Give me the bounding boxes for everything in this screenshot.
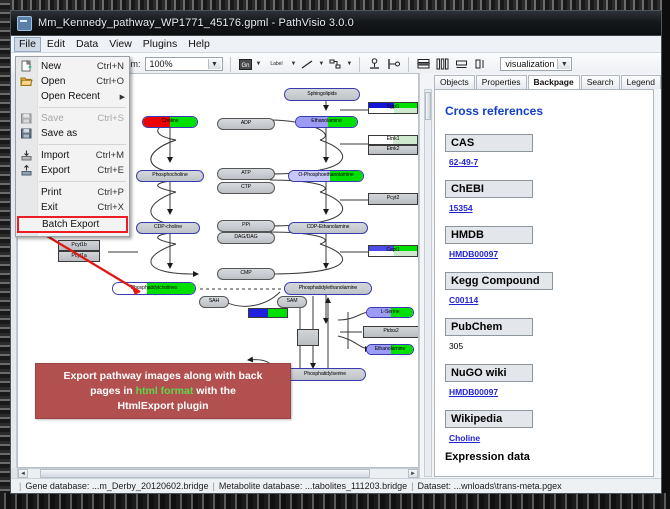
save-as-icon xyxy=(20,127,33,140)
scrollbar-thumb[interactable] xyxy=(425,92,431,120)
align-left-icon[interactable] xyxy=(386,57,401,72)
menu-item-save[interactable]: Save Ctrl+S xyxy=(16,111,129,126)
node-pcyt1b[interactable]: Pcyt1b xyxy=(58,240,100,251)
menu-separator xyxy=(39,181,126,182)
tab-search[interactable]: Search xyxy=(581,75,620,89)
menu-item-accel: Ctrl+S xyxy=(97,113,124,124)
connector-dropdown-icon[interactable]: ▼ xyxy=(346,61,352,67)
node-ctp[interactable]: CTP xyxy=(217,182,275,194)
menu-item-label: Save xyxy=(41,113,64,124)
node-ppi[interactable]: PPi xyxy=(217,220,275,232)
menu-item-export[interactable]: Export Ctrl+E xyxy=(16,163,129,178)
visualization-combo[interactable]: visualization ▼ xyxy=(500,57,572,71)
node-l-serine[interactable]: L-Serine xyxy=(366,307,414,318)
status-gene-db-label: Gene database: xyxy=(25,481,89,491)
chebi-link[interactable]: 15354 xyxy=(449,203,473,213)
menu-item-import[interactable]: Import Ctrl+M xyxy=(16,148,129,163)
status-metabolite-db-label: Metabolite database: xyxy=(219,481,303,491)
xref-header-chebi: ChEBI xyxy=(445,180,533,198)
status-gene-db-value: ...m_Derby_20120602.bridge xyxy=(92,481,209,491)
menu-plugins[interactable]: Plugins xyxy=(138,37,182,52)
annotation-line2a: pages in xyxy=(90,385,136,397)
menu-item-exit[interactable]: Exit Ctrl+X xyxy=(16,200,129,215)
menu-data[interactable]: Data xyxy=(71,37,103,52)
annotation-highlight: html format xyxy=(136,385,194,397)
toolbar-separator xyxy=(408,57,409,72)
common-height-icon[interactable] xyxy=(473,57,488,72)
xref-value-cas: 62-49-7 xyxy=(449,157,643,167)
menu-item-print[interactable]: Print Ctrl+P xyxy=(16,185,129,200)
menu-separator xyxy=(39,107,126,108)
annotation-callout: Export pathway images along with back pa… xyxy=(35,363,291,419)
menu-item-new[interactable]: New Ctrl+N xyxy=(16,59,129,74)
line-tool-icon[interactable] xyxy=(300,57,315,72)
menubar: File Edit Data View Plugins Help xyxy=(11,36,661,53)
xref-value-kegg: C00114 xyxy=(449,295,643,305)
tab-properties[interactable]: Properties xyxy=(476,75,527,89)
side-panel-tabs: Objects Properties Backpage Search Legen… xyxy=(420,73,661,89)
node-pcyt1a[interactable]: Pcyt1a xyxy=(58,251,100,262)
node-adp[interactable]: ADP xyxy=(217,118,275,130)
node-cmp[interactable]: CMP xyxy=(217,268,275,280)
menu-file[interactable]: File xyxy=(14,37,41,52)
node-sam[interactable]: SAM xyxy=(277,296,307,308)
status-dataset-label: Dataset: xyxy=(418,481,452,491)
cas-link[interactable]: 62-49-7 xyxy=(449,157,478,167)
menu-item-accel: Ctrl+N xyxy=(97,61,124,72)
node-ethanolamine-top[interactable]: Ethanolamine xyxy=(295,116,358,128)
scroll-left-icon[interactable]: ◄ xyxy=(18,469,28,478)
kegg-link[interactable]: C00114 xyxy=(449,295,478,305)
annotation-line1: Export pathway images along with back xyxy=(64,370,263,382)
tab-legend[interactable]: Legend xyxy=(621,75,661,89)
menu-help[interactable]: Help xyxy=(183,37,215,52)
menu-item-accel: Ctrl+X xyxy=(97,202,124,213)
toolbar-separator xyxy=(230,57,231,72)
menu-item-label: New xyxy=(41,61,61,72)
menu-item-open[interactable]: Open Ctrl+O xyxy=(16,74,129,89)
expression-data-title: Expression data xyxy=(445,451,643,463)
new-document-icon xyxy=(20,60,33,73)
datanode-dropdown-icon[interactable]: ▼ xyxy=(256,61,262,67)
menu-edit[interactable]: Edit xyxy=(42,37,70,52)
menu-item-accel: Ctrl+E xyxy=(97,165,124,176)
stack-center-icon[interactable] xyxy=(416,57,431,72)
node-dag[interactable]: DAG/DAG xyxy=(217,232,275,244)
pathvisio-window: Mm_Kennedy_pathway_WP1771_45176.gpml - P… xyxy=(10,10,662,494)
cross-references-title: Cross references xyxy=(445,104,643,118)
folder-open-icon xyxy=(20,75,33,88)
save-disk-icon xyxy=(20,112,33,125)
xref-value-nugo: HMDB00097 xyxy=(449,387,643,397)
node-o-phosphoethanolamine[interactable]: O-Phosphoethanolamine xyxy=(288,170,364,182)
window-titlebar: Mm_Kennedy_pathway_WP1771_45176.gpml - P… xyxy=(11,11,661,36)
node-sphingolipids[interactable]: Sphingolipids xyxy=(284,88,360,101)
node-sgpl1[interactable]: Sgpl1 xyxy=(368,102,418,114)
zoom-value: 100% xyxy=(150,59,173,69)
xref-header-cas: CAS xyxy=(445,134,533,152)
menu-item-save-as[interactable]: Save as xyxy=(16,126,129,141)
menu-item-label: Print xyxy=(41,187,62,198)
status-metabolite-db-value: ...tabolites_111203.bridge xyxy=(305,481,407,491)
datanode-tool-icon[interactable]: Gn xyxy=(238,57,253,72)
node-etnk1[interactable]: Etnk1 xyxy=(368,135,418,145)
export-icon xyxy=(20,164,33,177)
node-phosphocholine[interactable]: Phosphocholine xyxy=(136,170,204,182)
toolbar-separator xyxy=(359,57,360,72)
nugo-link[interactable]: HMDB00097 xyxy=(449,387,498,397)
node-choline-top[interactable]: Choline xyxy=(142,116,198,128)
desktop-background: Mm_Kennedy_pathway_WP1771_45176.gpml - P… xyxy=(0,0,670,509)
window-title: Mm_Kennedy_pathway_WP1771_45176.gpml - P… xyxy=(38,17,354,29)
annotation-line2b: with the xyxy=(193,385,236,397)
node-cdp-ethanolamine[interactable]: CDP-Ethanolamine xyxy=(288,222,368,234)
annotation-line3: HtmlExport plugin xyxy=(118,400,209,412)
node-phosphatidylserine[interactable]: Phosphatidylserine xyxy=(284,368,366,381)
distribute-icon[interactable] xyxy=(435,57,450,72)
screen-frame-bottom xyxy=(0,493,670,509)
node-phosphatidylcholines[interactable]: Phosphatidylcholines xyxy=(112,282,196,295)
statusbar: | Gene database: ...m_Derby_20120602.bri… xyxy=(11,478,661,493)
wikipedia-link[interactable]: Choline xyxy=(449,433,480,443)
node-sah[interactable]: SAH xyxy=(199,296,229,308)
xref-header-kegg: Kegg Compound xyxy=(445,272,553,290)
line-dropdown-icon[interactable]: ▼ xyxy=(318,61,324,67)
node-pcyt2[interactable]: Pcyt2 xyxy=(368,193,418,205)
menu-item-accel: Ctrl+M xyxy=(96,150,124,161)
menu-item-open-recent[interactable]: Open Recent ▶ xyxy=(16,89,129,104)
side-panel-vertical-scrollbar[interactable] xyxy=(424,89,432,477)
menu-item-label: Open Recent xyxy=(41,91,100,102)
menu-view[interactable]: View xyxy=(104,37,137,52)
xref-value-pubchem: 305 xyxy=(449,341,643,351)
chevron-right-icon: ▶ xyxy=(120,93,125,101)
visualization-value: visualization xyxy=(505,59,554,69)
xref-value-hmdb: HMDB00097 xyxy=(449,249,643,259)
status-dataset-value: ...wnloads\trans-meta.pgex xyxy=(454,481,562,491)
node-atp[interactable]: ATP xyxy=(217,168,275,180)
menu-item-label: Export xyxy=(41,165,70,176)
xref-value-chebi: 15354 xyxy=(449,203,643,213)
pathvisio-icon xyxy=(17,16,32,31)
import-icon xyxy=(20,149,33,162)
node-phosphatidylethanolamine[interactable]: Phosphatidylethanolamine xyxy=(284,282,372,295)
zoom-combo[interactable]: 100% ▼ xyxy=(145,57,223,71)
node-ethanolamine-right[interactable]: Ethanolamine xyxy=(366,344,414,355)
node-ptdss2[interactable]: Ptdss2 xyxy=(363,326,419,338)
menu-separator xyxy=(39,144,126,145)
xref-value-wikipedia: Choline xyxy=(449,433,643,443)
menu-item-accel: Ctrl+O xyxy=(96,76,124,87)
node-pemt-gene[interactable] xyxy=(248,308,288,318)
common-width-icon[interactable] xyxy=(454,57,469,72)
node-cept1[interactable]: Cept1 xyxy=(368,245,418,257)
menu-item-batch-export[interactable]: Batch Export xyxy=(17,216,128,233)
tab-objects[interactable]: Objects xyxy=(434,75,475,89)
svg-text:Gn: Gn xyxy=(241,63,249,69)
menu-item-label: Import xyxy=(41,150,69,161)
chevron-down-icon: ▼ xyxy=(208,59,221,69)
xref-header-hmdb: HMDB xyxy=(445,226,533,244)
menu-item-label: Open xyxy=(41,76,65,87)
tab-backpage[interactable]: Backpage xyxy=(528,75,580,90)
label-tool-icon[interactable]: Label xyxy=(265,57,287,72)
xref-header-pubchem: PubChem xyxy=(445,318,533,336)
menu-item-accel: Ctrl+P xyxy=(97,187,124,198)
side-panel: Objects Properties Backpage Search Legen… xyxy=(419,73,661,493)
screen-frame-top xyxy=(0,0,670,10)
label-dropdown-icon[interactable]: ▼ xyxy=(290,61,296,67)
node-etnk2[interactable]: Etnk2 xyxy=(368,145,418,155)
node-cdp-choline[interactable]: CDP-choline xyxy=(136,222,200,234)
menu-item-label: Batch Export xyxy=(42,219,99,230)
node-interaction-anchor[interactable] xyxy=(297,329,319,346)
hmdb-link[interactable]: HMDB00097 xyxy=(449,249,498,259)
backpage-content: Cross references CAS 62-49-7 ChEBI 15354… xyxy=(434,89,654,477)
scrollbar-thumb[interactable] xyxy=(40,469,370,478)
connector-tool-icon[interactable] xyxy=(328,57,343,72)
menu-item-label: Exit xyxy=(41,202,58,213)
file-menu-dropdown: New Ctrl+N Open Ctrl+O Open Recent ▶ Sav… xyxy=(15,56,130,237)
screen-frame-right xyxy=(662,0,670,509)
chevron-down-icon: ▼ xyxy=(557,59,570,69)
menu-item-label: Save as xyxy=(41,128,77,139)
xref-header-nugo: NuGO wiki xyxy=(445,364,533,382)
scroll-right-icon[interactable]: ► xyxy=(408,469,418,478)
screen-frame-left xyxy=(0,0,10,509)
align-top-icon[interactable] xyxy=(367,57,382,72)
xref-header-wikipedia: Wikipedia xyxy=(445,410,533,428)
